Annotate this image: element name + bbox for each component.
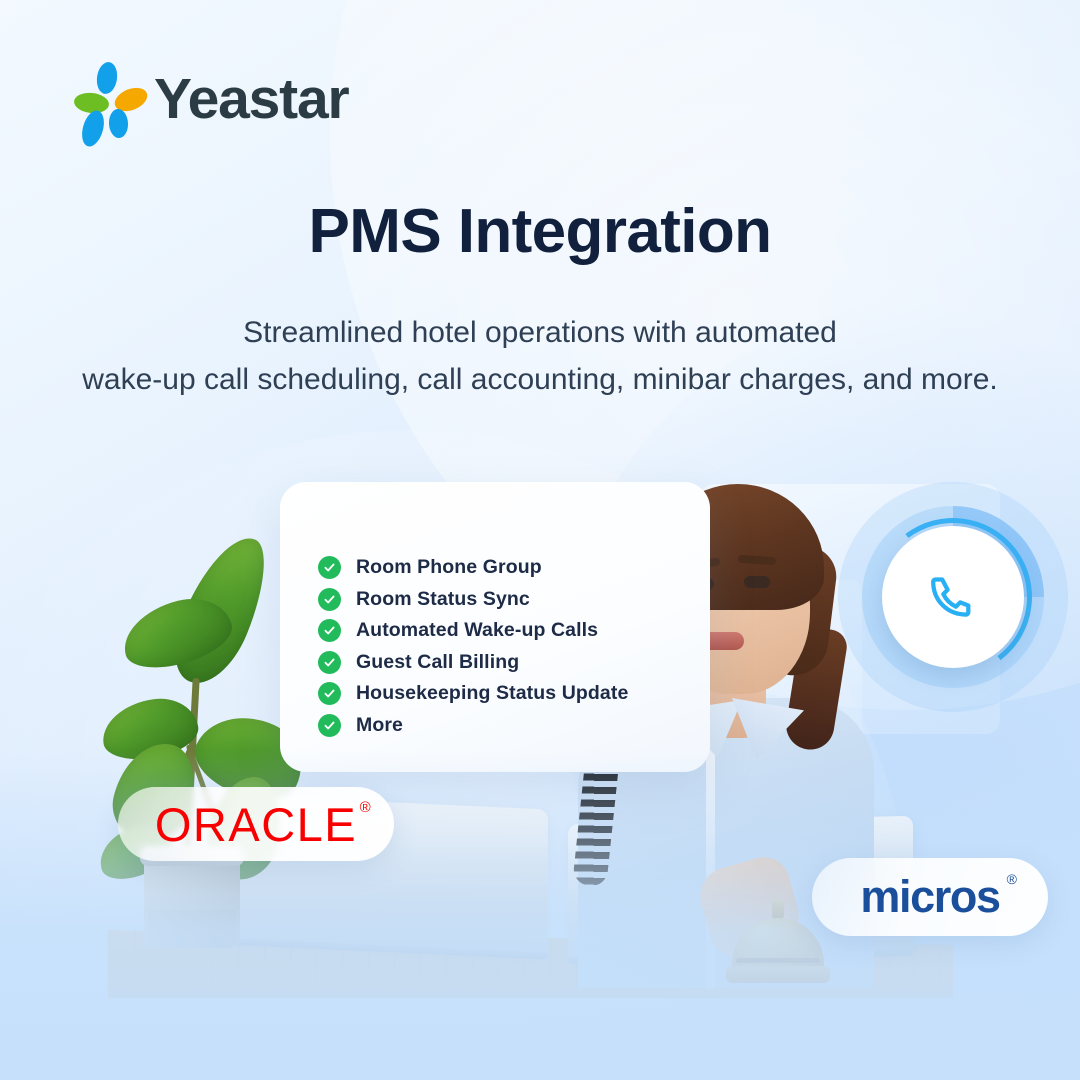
oracle-wordmark: ORACLE® [155,797,357,852]
feature-label: Housekeeping Status Update [356,682,628,705]
check-circle-icon [318,588,341,611]
subtitle-line-2: wake-up call scheduling, call accounting… [0,357,1080,404]
feature-card: Room Phone Group Room Status Sync Automa… [280,482,710,772]
list-item[interactable]: Room Status Sync [318,584,628,616]
brand-wordmark: Yeastar [154,71,348,128]
pms-integration-poster: Yeastar PMS Integration Streamlined hote… [0,0,1080,1080]
feature-label: Room Status Sync [356,588,530,611]
list-item[interactable]: More [318,710,628,742]
partner-badge-micros[interactable]: micros® [812,858,1048,936]
partner-badge-oracle[interactable]: ORACLE® [118,787,394,861]
micros-name: micros [860,871,999,922]
page-subtitle: Streamlined hotel operations with automa… [0,310,1080,403]
check-circle-icon [318,714,341,737]
logo-petal-top [95,61,119,95]
feature-label: Room Phone Group [356,556,542,579]
list-item[interactable]: Automated Wake-up Calls [318,615,628,647]
logo-petal-bottom-center [108,109,128,139]
person-eye [744,576,770,588]
oracle-trademark: ® [360,799,373,816]
yeastar-flower-icon [78,62,140,136]
check-circle-icon [318,651,341,674]
list-item[interactable]: Housekeeping Status Update [318,678,628,710]
check-circle-icon [318,682,341,705]
phone-handset-icon [926,570,980,624]
page-title: PMS Integration [0,196,1080,267]
micros-trademark: ® [1007,871,1016,887]
logo-petal-bottom-left [78,108,107,149]
list-item[interactable]: Room Phone Group [318,552,628,584]
micros-wordmark: micros® [860,871,999,923]
subtitle-line-1: Streamlined hotel operations with automa… [0,310,1080,357]
check-circle-icon [318,619,341,642]
oracle-name: ORACLE [155,798,357,851]
feature-label: More [356,714,403,737]
feature-label: Automated Wake-up Calls [356,619,598,642]
list-item[interactable]: Guest Call Billing [318,647,628,679]
feature-list: Room Phone Group Room Status Sync Automa… [318,552,628,741]
feature-label: Guest Call Billing [356,651,519,674]
check-circle-icon [318,556,341,579]
yeastar-logo[interactable]: Yeastar [78,62,348,136]
call-badge-core [882,526,1024,668]
